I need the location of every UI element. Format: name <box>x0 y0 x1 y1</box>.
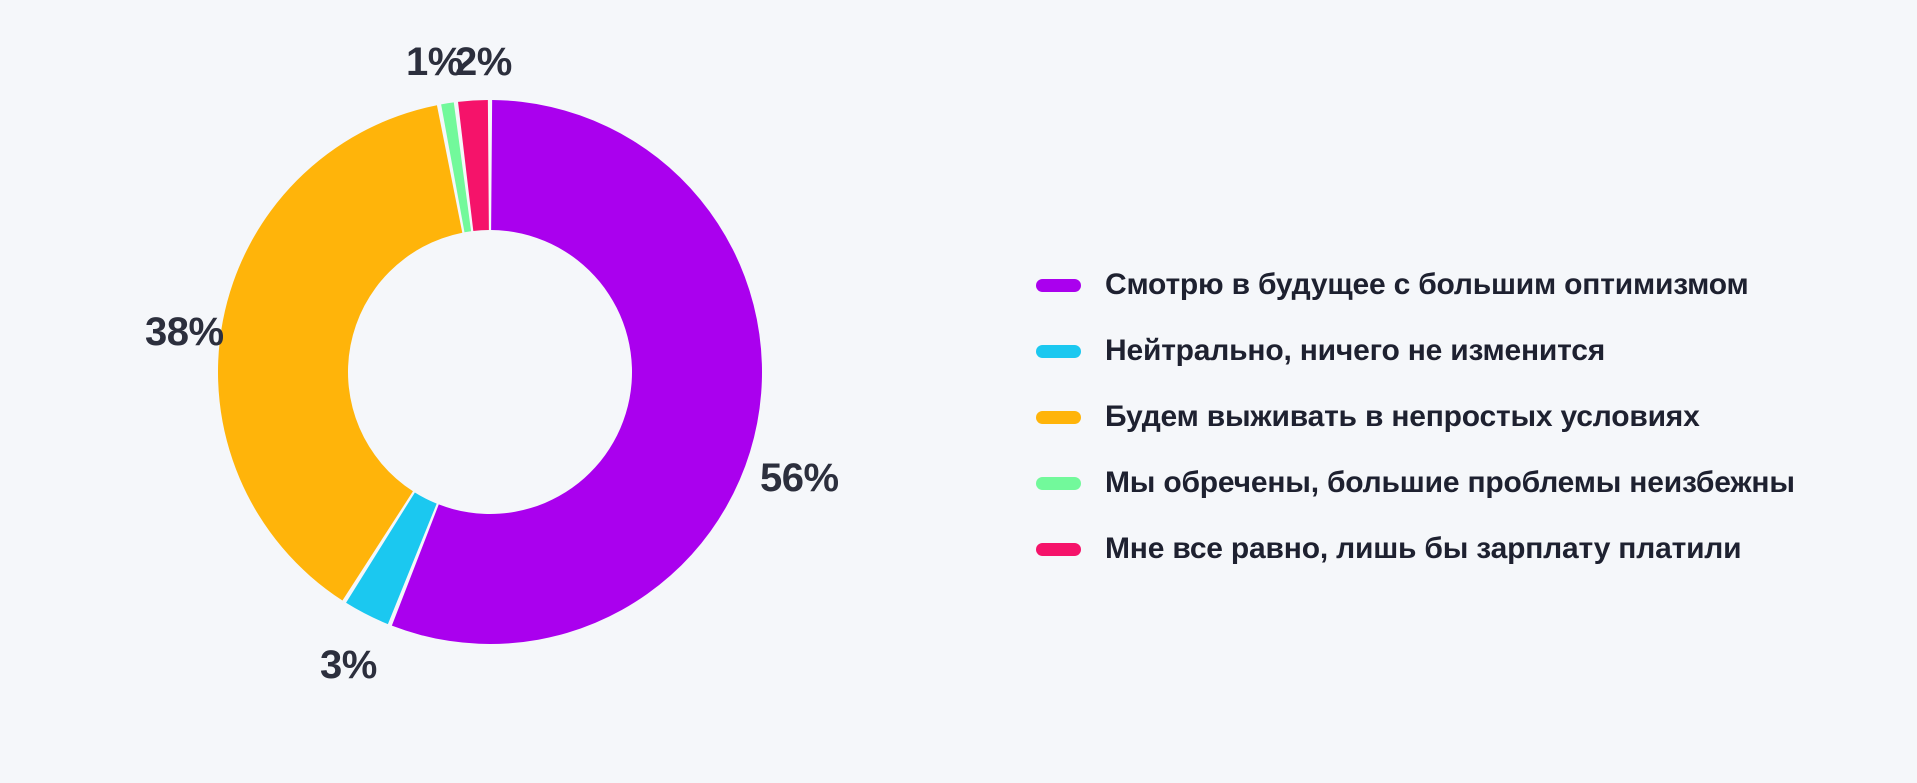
slice-label-cyan: 3% <box>320 645 377 685</box>
legend-swatch-icon <box>1036 279 1081 292</box>
slice-label-pink: 2% <box>455 42 512 82</box>
legend-item-label: Будем выживать в непростых условиях <box>1105 402 1700 432</box>
legend-item[interactable]: Нейтрально, ничего не изменится <box>1036 318 1856 384</box>
donut-chart-plot: 56% 3% 38% 1% 2% <box>0 0 980 783</box>
donut-chart-svg <box>0 0 980 783</box>
legend-swatch-icon <box>1036 411 1081 424</box>
slice-label-orange: 38% <box>145 312 224 352</box>
donut-chart-figure: 56% 3% 38% 1% 2% Смотрю в будущее с боль… <box>0 0 1917 783</box>
legend-item[interactable]: Будем выживать в непростых условиях <box>1036 384 1856 450</box>
legend-item-label: Нейтрально, ничего не изменится <box>1105 336 1605 366</box>
chart-legend: Смотрю в будущее с большим оптимизмом Не… <box>1036 252 1856 582</box>
legend-item[interactable]: Мне все равно, лишь бы зарплату платили <box>1036 516 1856 582</box>
legend-item-label: Смотрю в будущее с большим оптимизмом <box>1105 270 1748 300</box>
legend-item[interactable]: Смотрю в будущее с большим оптимизмом <box>1036 252 1856 318</box>
legend-item-label: Мне все равно, лишь бы зарплату платили <box>1105 534 1741 564</box>
donut-slice-group <box>218 100 762 644</box>
legend-swatch-icon <box>1036 543 1081 556</box>
legend-swatch-icon <box>1036 345 1081 358</box>
legend-item[interactable]: Мы обречены, большие проблемы неизбежны <box>1036 450 1856 516</box>
slice-label-purple: 56% <box>760 458 839 498</box>
legend-swatch-icon <box>1036 477 1081 490</box>
legend-item-label: Мы обречены, большие проблемы неизбежны <box>1105 468 1795 498</box>
